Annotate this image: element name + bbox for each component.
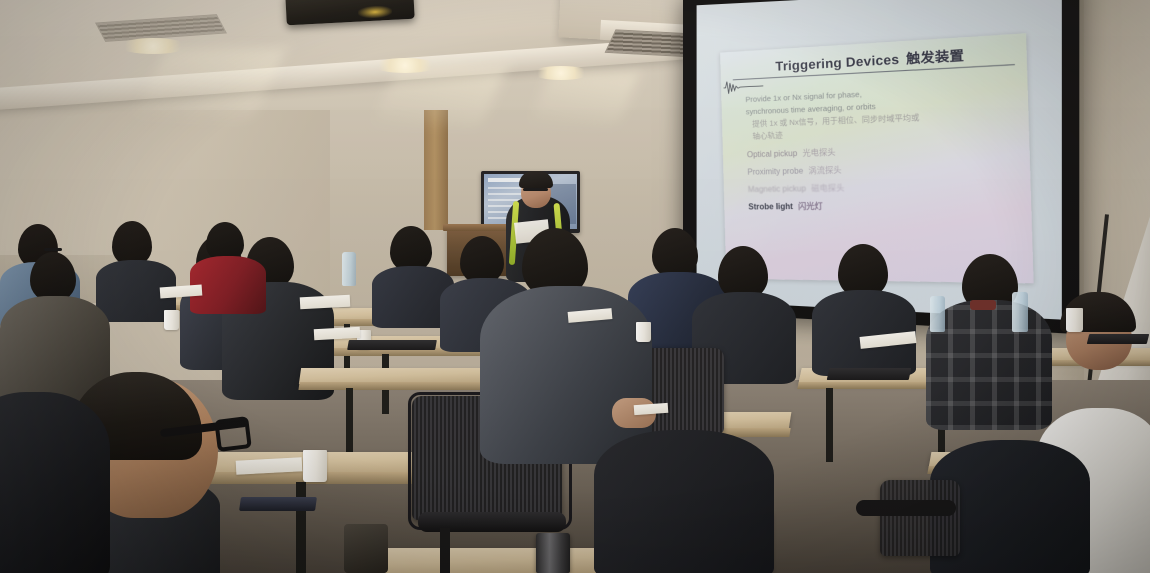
downlight-icon <box>118 38 188 54</box>
water-bottle <box>342 252 356 286</box>
presenter-glasses-icon <box>523 188 548 191</box>
desk-leg <box>346 388 353 454</box>
attendee-glasses-lens-icon <box>214 416 252 452</box>
slide-title-cn: 触发装置 <box>905 48 964 67</box>
desk-leg <box>296 482 306 573</box>
sub-bullet-cn: 磁电探头 <box>811 183 845 193</box>
sub-bullet-en: Magnetic pickup <box>747 184 805 194</box>
attendee-torso <box>594 430 774 573</box>
attendee-torso <box>480 286 652 464</box>
attendee-collar <box>970 300 996 310</box>
slide-sub-bullet: Magnetic pickup磁电探头 <box>747 179 1020 196</box>
attendee-torso <box>0 392 110 573</box>
paper-cup <box>1066 308 1083 332</box>
training-room-photo: Triggering Devices触发装置 Provide 1x or Nx … <box>0 0 1150 573</box>
laptop <box>1087 334 1149 344</box>
attendee-glasses-icon <box>44 248 62 251</box>
sub-bullet-en: Optical pickup <box>746 149 797 160</box>
office-chair-column <box>440 528 450 573</box>
thermos <box>536 533 570 573</box>
presenter-hair <box>519 171 553 188</box>
slide-sub-bullet: Strobe light闪光灯 <box>748 198 1021 213</box>
desk <box>385 548 617 573</box>
slide-sub-bullets: Optical pickup光电探头 Proximity probe涡流探头 M… <box>746 142 1021 213</box>
downlight-icon <box>532 66 590 80</box>
paper-cup <box>636 322 651 342</box>
slide-sub-bullet: Optical pickup光电探头 <box>746 142 1019 162</box>
bag <box>344 524 388 573</box>
attendee-head <box>652 228 698 278</box>
water-bottle <box>930 296 945 332</box>
laptop <box>827 368 912 380</box>
office-chair-back <box>880 480 960 556</box>
desk-edge <box>298 382 490 390</box>
sub-bullet-en: Proximity probe <box>747 166 803 176</box>
sub-bullet-cn: 涡流探头 <box>808 166 841 176</box>
paper-cup <box>303 450 327 482</box>
sub-bullet-cn: 光电探头 <box>802 148 835 158</box>
calculator <box>239 497 317 511</box>
attendee-head <box>30 252 76 302</box>
laptop <box>347 340 437 350</box>
sub-bullet-en: Strobe light <box>748 201 793 211</box>
sub-bullet-cn: 闪光灯 <box>797 201 822 211</box>
projector-lens-icon <box>358 5 393 19</box>
slide-bullet-list: Provide 1x or Nx signal for phase, synch… <box>731 81 1021 213</box>
office-chair-arm <box>856 500 956 516</box>
downlight-icon <box>372 58 438 73</box>
slide-sub-bullet: Proximity probe涡流探头 <box>747 160 1020 178</box>
attendee-head <box>460 236 504 284</box>
presentation-slide: Triggering Devices触发装置 Provide 1x or Nx … <box>720 33 1033 284</box>
desk-leg <box>826 388 833 462</box>
paper-cup <box>164 310 179 330</box>
water-bottle <box>1012 292 1028 332</box>
